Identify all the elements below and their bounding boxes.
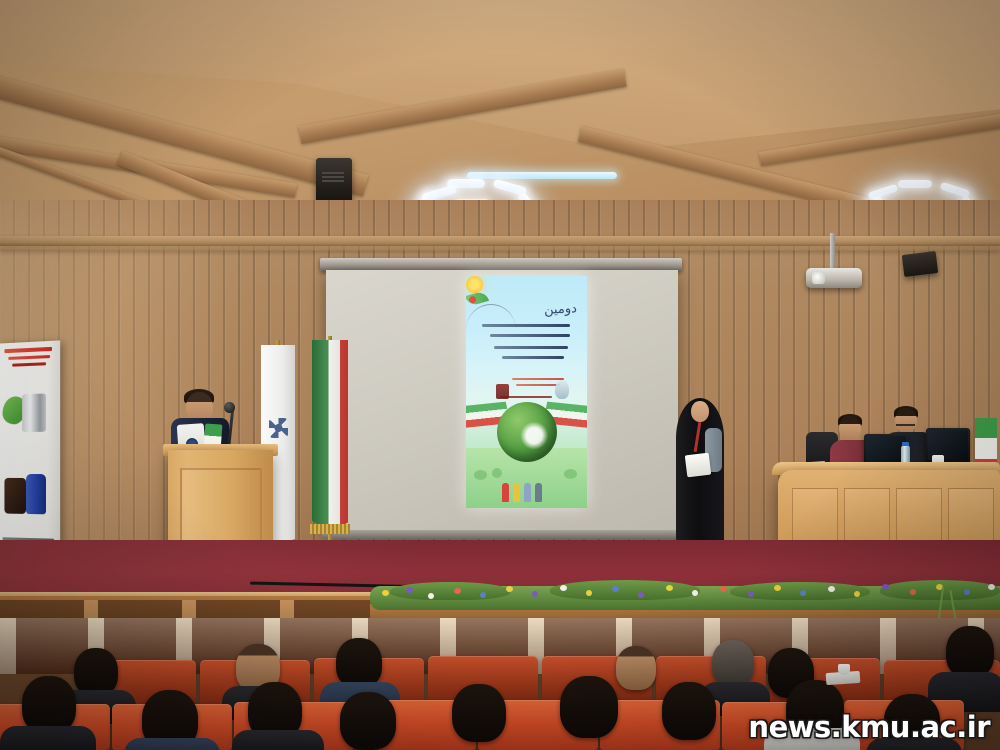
- flower: [988, 584, 995, 590]
- flower: [506, 586, 513, 592]
- flower: [692, 590, 698, 596]
- university-emblem-icon: [269, 418, 288, 438]
- poster-tree-icon: [492, 468, 502, 478]
- banner-header: [0, 346, 60, 371]
- flower-planter: [370, 580, 1000, 614]
- flower: [910, 589, 916, 595]
- poster-sun-icon: [466, 276, 483, 293]
- flower: [382, 590, 389, 596]
- flower: [428, 593, 434, 599]
- audience-head: [336, 638, 382, 688]
- technician-1-head: [839, 416, 861, 441]
- blue-bottle-icon: [26, 474, 46, 514]
- poster-tree-icon: [564, 469, 577, 479]
- flower: [666, 585, 673, 591]
- wall-speaker-icon: [902, 251, 938, 277]
- dark-bottle-icon: [4, 478, 26, 514]
- held-papers: [685, 453, 712, 478]
- flower: [560, 585, 567, 591]
- audience-shoulders: [124, 738, 220, 750]
- flower: [964, 589, 970, 595]
- watermark: news.kmu.ac.ir: [748, 710, 990, 744]
- audience-head: [74, 648, 118, 696]
- flower: [828, 586, 835, 592]
- audience-head: [452, 684, 506, 742]
- audience-shoulders: [0, 726, 96, 750]
- flower: [800, 590, 806, 596]
- poster-subtitle-line: [512, 378, 564, 380]
- flower: [748, 591, 754, 597]
- flower: [854, 591, 860, 597]
- projector-mount-pole: [830, 233, 835, 271]
- wall-cornice: [0, 236, 1000, 246]
- flower: [720, 586, 727, 592]
- planter-foliage: [550, 580, 700, 600]
- poster-subtitle-line: [516, 384, 560, 386]
- flower: [586, 590, 592, 596]
- poster-title-line: [482, 324, 570, 327]
- cup-small: [838, 664, 850, 675]
- iran-flag: [312, 340, 348, 532]
- poster-title-line: [502, 356, 564, 359]
- audience-shoulders: [232, 730, 324, 750]
- flower: [882, 584, 889, 590]
- screen-bottom-bar: [322, 530, 682, 539]
- microphone-icon: [224, 402, 235, 413]
- audience-head: [946, 626, 994, 678]
- banner-product-image-2: [4, 472, 56, 517]
- poster-tree-icon: [474, 470, 487, 480]
- poster-title-line: [490, 334, 570, 337]
- ceiling-speaker-icon: [316, 158, 352, 206]
- poster-child-figure: [535, 483, 542, 502]
- wall-cornice-lower: [0, 246, 1000, 251]
- poster-globe-icon: [497, 402, 557, 462]
- poster-logo-right: [555, 380, 569, 399]
- glasses-icon: [896, 424, 915, 429]
- poster-child-figure: [513, 483, 520, 502]
- flower: [454, 588, 461, 594]
- audience-head: [340, 692, 396, 750]
- flag-fringe: [310, 524, 350, 534]
- poster-title-line: [494, 346, 568, 349]
- metal-container-icon: [22, 393, 46, 432]
- poster-title-script: دومین: [544, 301, 578, 318]
- flower: [480, 592, 486, 598]
- banner-product-image-1: [2, 389, 54, 436]
- audience-head: [560, 676, 618, 738]
- audience-head: [616, 646, 656, 690]
- auditorium-photo: دومین: [0, 0, 1000, 750]
- audience-head: [662, 682, 716, 740]
- flower: [406, 587, 413, 593]
- flower: [532, 591, 538, 597]
- audience-head: [712, 640, 754, 686]
- projector-lens-icon: [812, 272, 825, 284]
- flower: [638, 592, 644, 598]
- poster-child-figure: [502, 483, 509, 502]
- projected-poster: دومین: [466, 276, 587, 508]
- poster-child-figure: [524, 483, 531, 502]
- technician-2-head: [895, 408, 917, 433]
- woman-face: [691, 401, 709, 422]
- flower: [612, 586, 619, 592]
- flower: [774, 585, 781, 591]
- poster-logo-left: [496, 384, 509, 399]
